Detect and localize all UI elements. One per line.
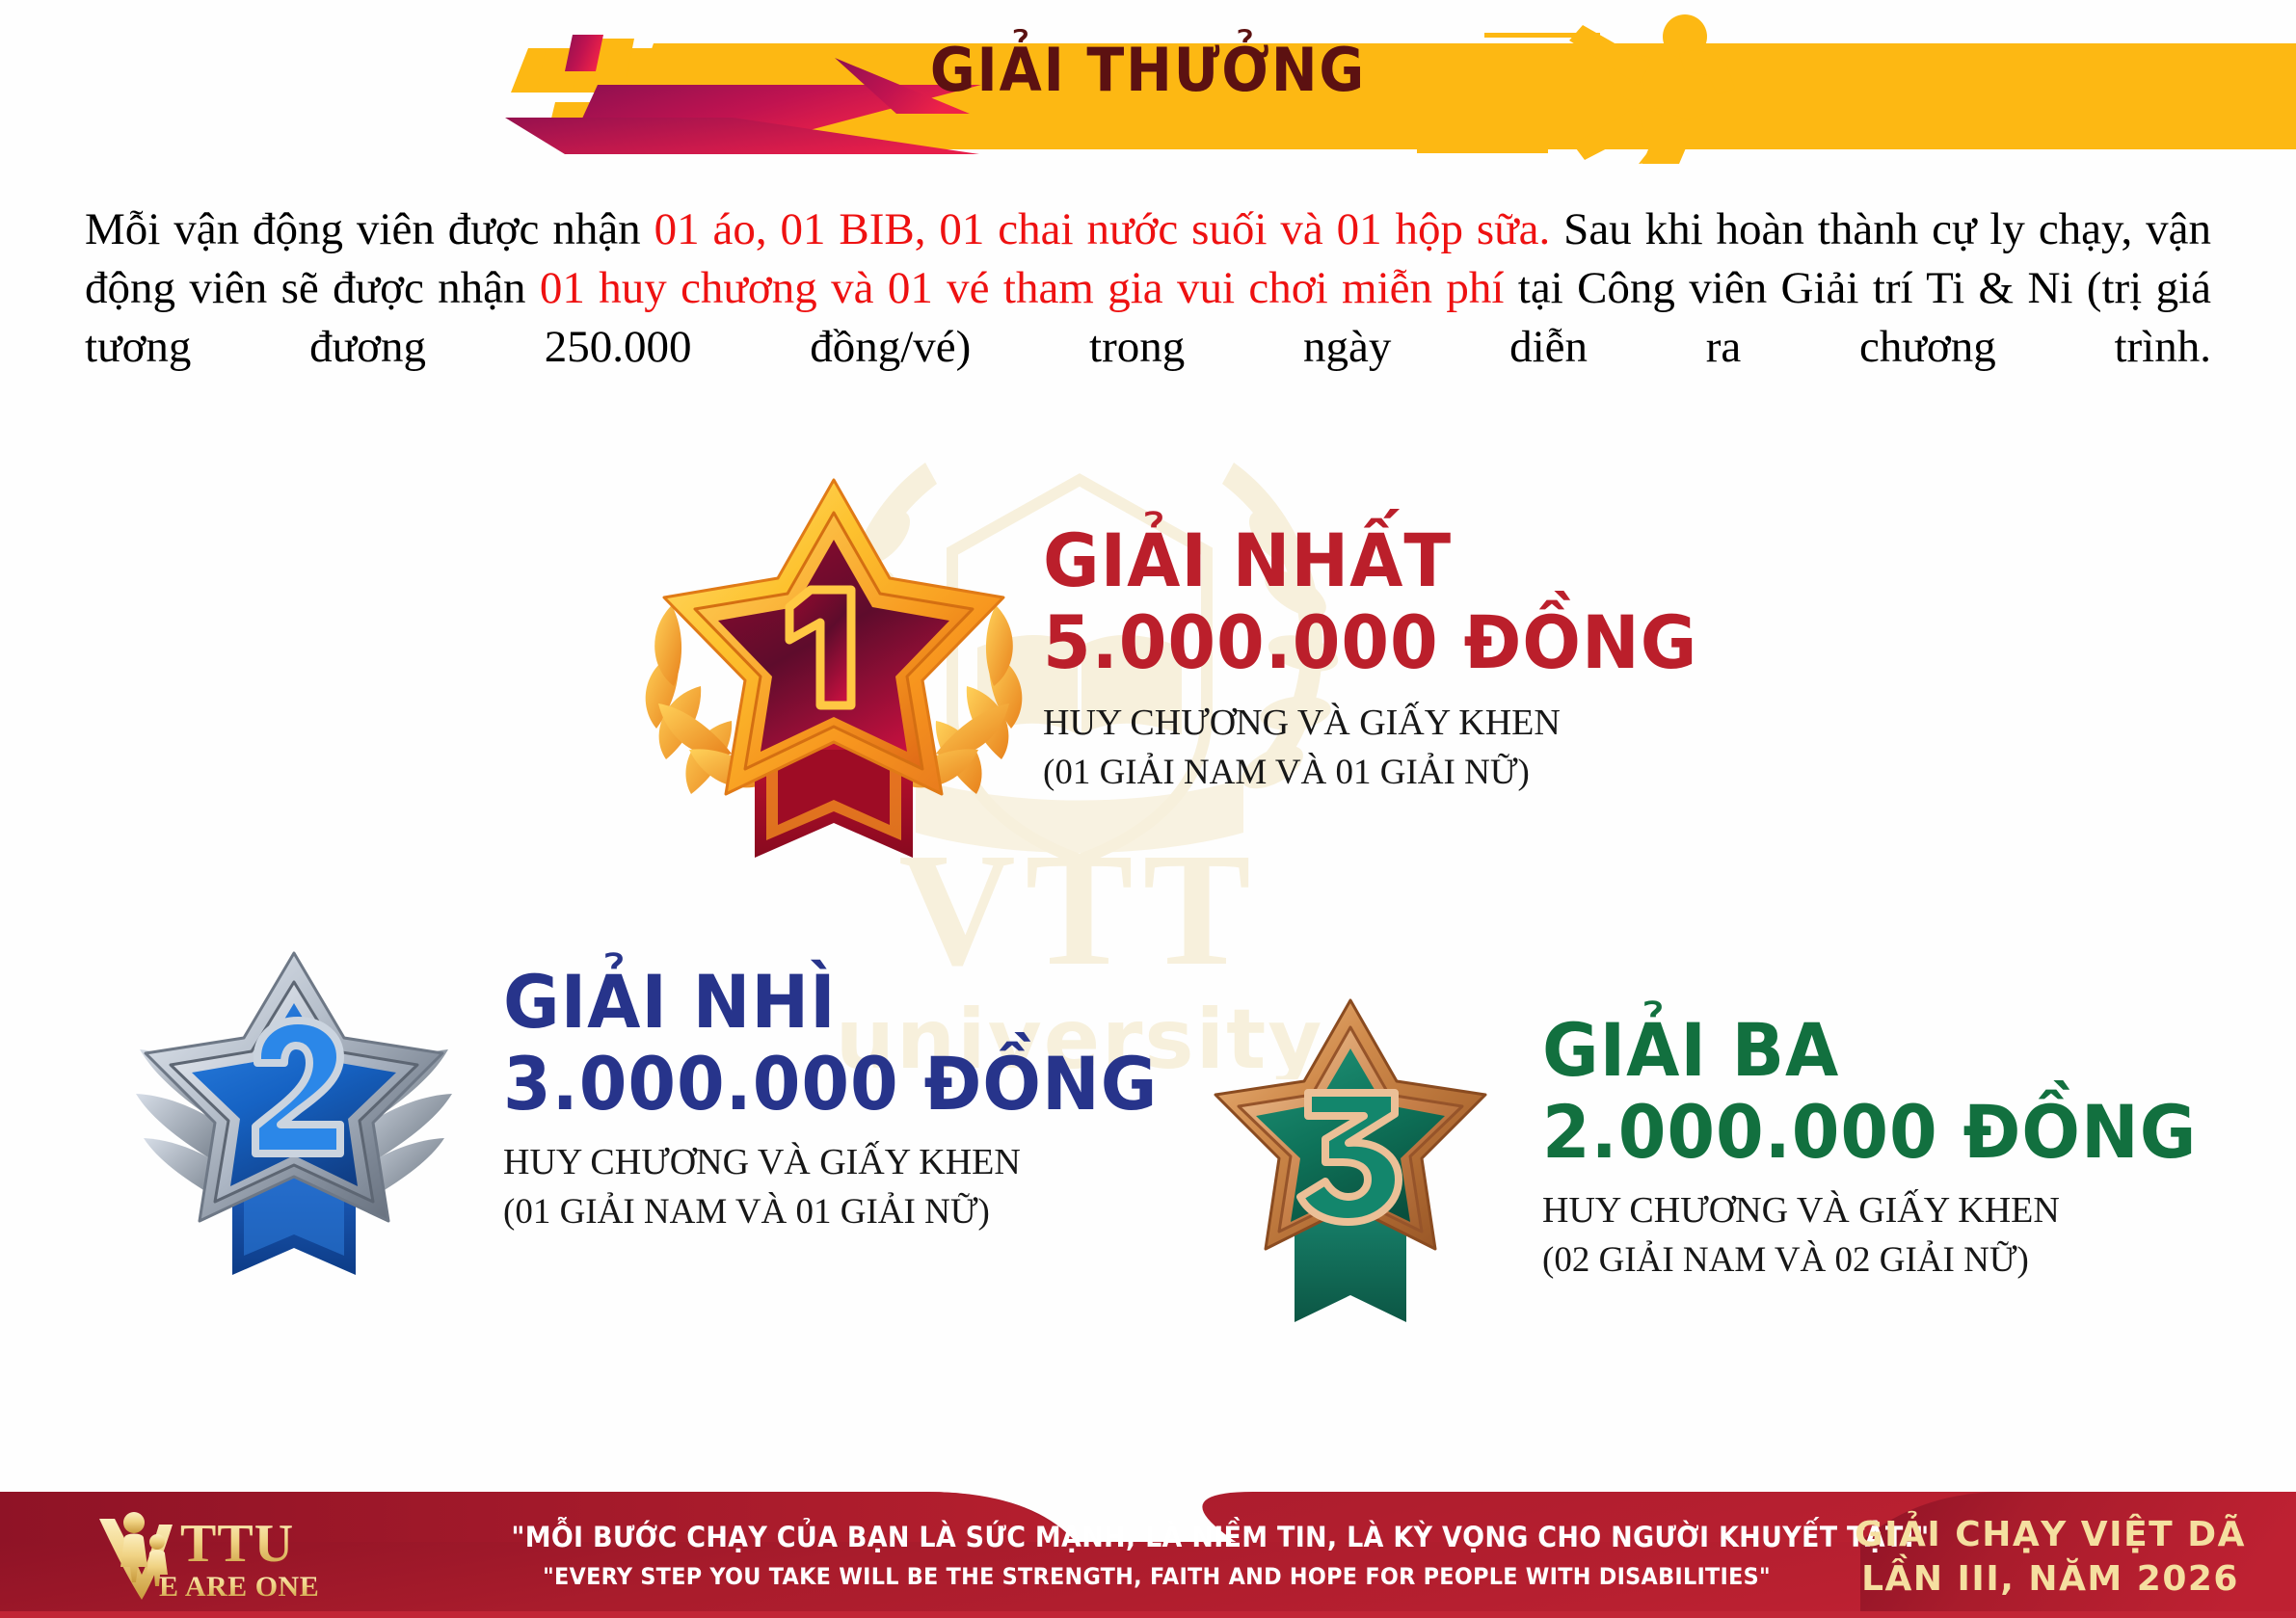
gold-star-medal-icon [631, 463, 1036, 877]
prize-3-title: GIẢI BA [1542, 1012, 2197, 1088]
prize-3-sub2: (02 GIẢI NAM VÀ 02 GIẢI NỮ) [1542, 1239, 2239, 1281]
prize-3-sub1: HUY CHƯƠNG VÀ GIẤY KHEN [1542, 1189, 2239, 1232]
footer-slogan: "MỖI BƯỚC CHẠY CỦA BẠN LÀ SỨC MẠNH, LÀ N… [463, 1521, 1851, 1590]
ttu-logo: TTU E ARE ONE [92, 1503, 381, 1609]
page-title: GIẢI THƯỞNG [92, 35, 2203, 105]
prize-block-third: GIẢI BA 2.000.000 ĐỒNG HUY CHƯƠNG VÀ GIẤ… [1542, 1012, 2239, 1281]
prize-2-sub1: HUY CHƯƠNG VÀ GIẤY KHEN [503, 1141, 1200, 1183]
intro-highlight-2: 01 huy chương và 01 vé tham gia vui chơi… [540, 263, 1505, 313]
bronze-star-medal-icon [1190, 993, 1508, 1325]
slogan-vietnamese: "MỖI BƯỚC CHẠY CỦA BẠN LÀ SỨC MẠNH, LÀ N… [511, 1521, 1802, 1553]
prize-1-amount: 5.000.000 ĐỒNG [1043, 604, 1697, 680]
event-badge: GIẢI CHẠY VIỆT DÃ LẦN III, NĂM 2026 [1855, 1513, 2246, 1602]
intro-seg1: Mỗi vận động viên được nhận [85, 204, 654, 254]
silver-star-medal-icon [111, 949, 477, 1282]
ttu-logo-tagline: E ARE ONE [159, 1571, 319, 1603]
ttu-logo-name: TTU [180, 1514, 294, 1574]
event-edition-year: LẦN III, NĂM 2026 [1855, 1557, 2246, 1602]
prize-2-amount: 3.000.000 ĐỒNG [503, 1046, 1158, 1122]
prize-block-first: GIẢI NHẤT 5.000.000 ĐỒNG HUY CHƯƠNG VÀ G… [1043, 522, 1740, 793]
intro-highlight-1: 01 áo, 01 BIB, 01 chai nước suối và 01 h… [654, 204, 1551, 254]
prize-2-sub2: (01 GIẢI NAM VÀ 01 GIẢI NỮ) [503, 1191, 1200, 1233]
prize-3-amount: 2.000.000 ĐỒNG [1542, 1094, 2197, 1170]
prize-1-title: GIẢI NHẤT [1043, 522, 1697, 598]
event-name: GIẢI CHẠY VIỆT DÃ [1855, 1513, 2246, 1557]
intro-paragraph: Mỗi vận động viên được nhận 01 áo, 01 BI… [85, 200, 2211, 377]
prize-block-second: GIẢI NHÌ 3.000.000 ĐỒNG HUY CHƯƠNG VÀ GI… [503, 964, 1200, 1233]
prize-2-title: GIẢI NHÌ [503, 964, 1158, 1040]
prize-1-sub1: HUY CHƯƠNG VÀ GIẤY KHEN [1043, 702, 1740, 744]
slogan-english: "EVERY STEP YOU TAKE WILL BE THE STRENGT… [511, 1563, 1802, 1590]
prize-poster: VTT university [0, 0, 2296, 1618]
prize-1-sub2: (01 GIẢI NAM VÀ 01 GIẢI NỮ) [1043, 752, 1740, 793]
